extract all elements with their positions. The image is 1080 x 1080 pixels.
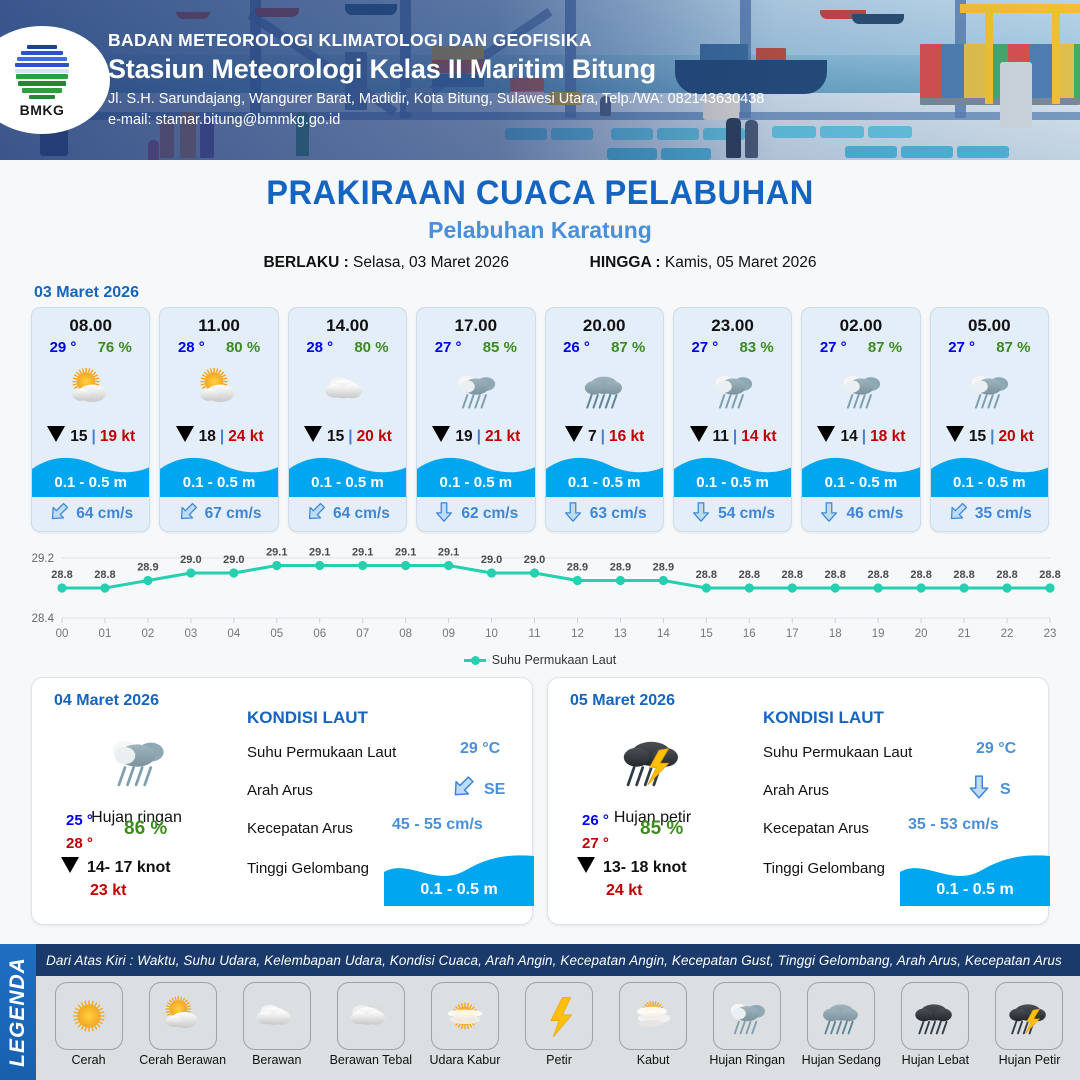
sst-chart-svg: 29.228.400010203040506070809101112131415… [14, 540, 1066, 652]
page-title: PRAKIRAAN CUACA PELABUHAN [22, 174, 1059, 213]
bmkg-logo-text: BMKG [20, 102, 65, 118]
current-direction-arrow-icon [450, 774, 476, 805]
wave-height-value: 0.1 - 0.5 m [674, 474, 791, 491]
sea-row-label: Kecepatan Arus [763, 820, 869, 837]
hingga-value: Kamis, 05 Maret 2026 [665, 254, 817, 271]
current-speed: 46 cm/s [846, 505, 903, 523]
wave-height-band: 0.1 - 0.5 m [802, 453, 919, 497]
legend-side-label: LEGENDA [0, 944, 36, 1080]
svg-text:28.9: 28.9 [137, 562, 158, 574]
legend-item: Berawan Tebal [324, 982, 417, 1067]
daily-forecast-panel: 05 Maret 2026 Hujan petir 26 ° 27 ° 85 %… [547, 677, 1049, 925]
legend-icon-cerah [55, 982, 123, 1050]
weather-icon-cerah-berawan [32, 358, 149, 420]
daily-wave-height: 0.1 - 0.5 m [384, 854, 534, 906]
legend-icon-hujan-petir [995, 982, 1063, 1050]
svg-text:28.8: 28.8 [996, 569, 1017, 581]
wave-height-band: 0.1 - 0.5 m [674, 453, 791, 497]
svg-text:29.1: 29.1 [395, 547, 416, 559]
forecast-humidity: 80 % [354, 339, 388, 356]
svg-text:29.0: 29.0 [524, 554, 545, 566]
forecast-humidity: 87 % [611, 339, 645, 356]
legend-caption: Hujan Lebat [889, 1053, 982, 1067]
daily-temp-min: 26 ° [582, 810, 609, 833]
forecast-time: 02.00 [802, 308, 919, 336]
svg-text:23: 23 [1044, 628, 1057, 640]
current-speed-value: 45 - 55 cm/s [392, 816, 483, 834]
forecast-temp-humidity-row: 28 ° 80 % [160, 336, 277, 356]
daily-wave-height: 0.1 - 0.5 m [900, 854, 1050, 906]
wind-direction-arrow-icon [564, 425, 584, 448]
svg-text:29.1: 29.1 [309, 547, 330, 559]
forecast-wind-row: 15 | 20 kt [289, 420, 406, 453]
current-direction-value: S [966, 774, 1011, 805]
wind-speed: 18 [199, 428, 216, 446]
wave-height-value: 0.1 - 0.5 m [160, 474, 277, 491]
wind-speed: 14 [840, 428, 857, 446]
title-block: PRAKIRAAN CUACA PELABUHAN Pelabuhan Kara… [0, 160, 1080, 272]
forecast-temperature: 27 ° [820, 339, 847, 356]
svg-text:28.9: 28.9 [567, 562, 588, 574]
current-speed: 63 cm/s [590, 505, 647, 523]
svg-text:28.8: 28.8 [739, 569, 760, 581]
current-speed: 62 cm/s [461, 505, 518, 523]
wind-speed: 19 [455, 428, 472, 446]
legend-caption: Hujan Ringan [701, 1053, 794, 1067]
forecast-card: 23.00 27 ° 83 % 11 | 14 kt 0.1 - 0.5 m 5… [673, 307, 792, 532]
svg-text:29.0: 29.0 [223, 554, 244, 566]
current-direction-arrow-icon [48, 501, 70, 528]
forecast-wind-row: 15 | 20 kt [931, 420, 1048, 453]
svg-text:03: 03 [184, 628, 197, 640]
legend-item: Hujan Petir [983, 982, 1076, 1067]
forecast-temp-humidity-row: 26 ° 87 % [546, 336, 663, 356]
legend-item: Hujan Sedang [795, 982, 888, 1067]
svg-text:04: 04 [227, 628, 240, 640]
wind-gust: 21 kt [485, 428, 520, 446]
forecast-card: 20.00 26 ° 87 % 7 | 16 kt 0.1 - 0.5 m 63… [545, 307, 664, 532]
svg-text:28.8: 28.8 [94, 569, 115, 581]
legend-caption: Hujan Petir [983, 1053, 1076, 1067]
wave-height-value: 0.1 - 0.5 m [546, 474, 663, 491]
legend-icon-kabut [619, 982, 687, 1050]
forecast-card-row: 08.00 29 ° 76 % 15 | 19 kt 0.1 - 0.5 m 6… [0, 307, 1080, 532]
forecast-time: 08.00 [32, 308, 149, 336]
svg-text:28.8: 28.8 [825, 569, 846, 581]
forecast-time: 11.00 [160, 308, 277, 336]
legend-caption: Udara Kabur [418, 1053, 511, 1067]
forecast-card: 05.00 27 ° 87 % 15 | 20 kt 0.1 - 0.5 m 3… [930, 307, 1049, 532]
svg-text:20: 20 [915, 628, 928, 640]
wind-separator: | [91, 428, 95, 446]
legend-note-bar: Dari Atas Kiri : Waktu, Suhu Udara, Kele… [36, 944, 1080, 976]
wave-height-band: 0.1 - 0.5 m [546, 453, 663, 497]
wind-gust: 19 kt [100, 428, 135, 446]
wind-direction-arrow-icon [46, 425, 66, 448]
forecast-current-row: 67 cm/s [160, 497, 277, 531]
sea-row-label: Tinggi Gelombang [763, 860, 885, 877]
hingga-label: HINGGA : [590, 254, 661, 271]
svg-text:29.0: 29.0 [481, 554, 502, 566]
forecast-wind-row: 11 | 14 kt [674, 420, 791, 453]
forecast-current-row: 64 cm/s [32, 497, 149, 531]
legend-icon-udara-kabur [431, 982, 499, 1050]
legend-caption: Cerah [42, 1053, 135, 1067]
svg-text:02: 02 [142, 628, 155, 640]
forecast-temperature: 27 ° [948, 339, 975, 356]
svg-text:28.8: 28.8 [953, 569, 974, 581]
svg-text:12: 12 [571, 628, 584, 640]
forecast-wind-row: 18 | 24 kt [160, 420, 277, 453]
svg-text:28.8: 28.8 [910, 569, 931, 581]
svg-text:11: 11 [529, 628, 541, 640]
sea-surface-temp-value: 29 °C [976, 740, 1016, 758]
legend-item: Cerah Berawan [136, 982, 229, 1067]
current-speed: 54 cm/s [718, 505, 775, 523]
svg-text:15: 15 [700, 628, 713, 640]
forecast-current-row: 35 cm/s [931, 497, 1048, 531]
forecast-humidity: 87 % [868, 339, 902, 356]
wind-gust: 18 kt [870, 428, 905, 446]
weather-icon-hujan-ringan [931, 358, 1048, 420]
wind-separator: | [477, 428, 481, 446]
forecast-card: 08.00 29 ° 76 % 15 | 19 kt 0.1 - 0.5 m 6… [31, 307, 150, 532]
weather-icon-cerah-berawan [160, 358, 277, 420]
svg-text:17: 17 [786, 628, 799, 640]
forecast-temp-humidity-row: 28 ° 80 % [289, 336, 406, 356]
daily-wind: 13- 18 knot [576, 856, 687, 879]
legend-caption: Kabut [607, 1053, 700, 1067]
legend-icon-berawan-tebal [337, 982, 405, 1050]
legend-item: Petir [512, 982, 605, 1067]
svg-text:28.8: 28.8 [51, 569, 72, 581]
wind-gust: 20 kt [998, 428, 1033, 446]
wind-speed: 15 [327, 428, 344, 446]
wind-separator: | [990, 428, 994, 446]
weather-icon-hujan-ringan [802, 358, 919, 420]
svg-text:09: 09 [442, 628, 455, 640]
daily-gust: 23 kt [90, 882, 126, 900]
forecast-current-row: 63 cm/s [546, 497, 663, 531]
current-direction-arrow-icon [690, 501, 712, 528]
forecast-current-row: 54 cm/s [674, 497, 791, 531]
svg-text:29.1: 29.1 [266, 547, 287, 559]
svg-text:29.0: 29.0 [180, 554, 201, 566]
daily-humidity: 86 % [124, 818, 167, 840]
wind-gust: 24 kt [228, 428, 263, 446]
svg-text:28.8: 28.8 [867, 569, 888, 581]
sea-conditions-title: KONDISI LAUT [247, 708, 368, 728]
berlaku-label: BERLAKU : [263, 254, 348, 271]
wind-direction-arrow-icon [60, 856, 80, 879]
svg-text:06: 06 [313, 628, 326, 640]
daily-temp-max: 27 ° [582, 833, 609, 856]
svg-text:08: 08 [399, 628, 412, 640]
svg-text:28.8: 28.8 [696, 569, 717, 581]
daily-wind-value: 13- 18 knot [603, 859, 687, 877]
svg-text:22: 22 [1001, 628, 1014, 640]
svg-text:28.8: 28.8 [782, 569, 803, 581]
legend-icon-hujan-sedang [807, 982, 875, 1050]
wave-height-band: 0.1 - 0.5 m [931, 453, 1048, 497]
svg-text:18: 18 [829, 628, 842, 640]
forecast-card: 11.00 28 ° 80 % 18 | 24 kt 0.1 - 0.5 m 6… [159, 307, 278, 532]
svg-text:07: 07 [356, 628, 369, 640]
daily-temperature-range: 25 ° 28 ° [66, 810, 93, 855]
daily-temperature-range: 26 ° 27 ° [582, 810, 609, 855]
svg-text:00: 00 [56, 628, 69, 640]
legend-caption: Hujan Sedang [795, 1053, 888, 1067]
forecast-temp-humidity-row: 27 ° 85 % [417, 336, 534, 356]
wave-height-value: 0.1 - 0.5 m [802, 474, 919, 491]
forecast-wind-row: 14 | 18 kt [802, 420, 919, 453]
current-speed: 64 cm/s [333, 505, 390, 523]
daily-temp-max: 28 ° [66, 833, 93, 856]
legend-icon-hujan-ringan [713, 982, 781, 1050]
header-organization: BADAN METEOROLOGI KLIMATOLOGI DAN GEOFIS… [108, 30, 764, 51]
forecast-temperature: 26 ° [563, 339, 590, 356]
header-email: e-mail: stamar.bitung@bmmkg.go.id [108, 110, 764, 131]
forecast-current-row: 46 cm/s [802, 497, 919, 531]
sea-row-label: Arah Arus [247, 782, 313, 799]
current-speed: 67 cm/s [205, 505, 262, 523]
weather-icon-berawan [289, 358, 406, 420]
svg-text:19: 19 [872, 628, 885, 640]
page-header: BMKG BADAN METEOROLOGI KLIMATOLOGI DAN G… [0, 0, 1080, 160]
forecast-date-label: 03 Maret 2026 [34, 284, 1080, 302]
weather-icon-hujan-ringan [417, 358, 534, 420]
svg-text:29.1: 29.1 [438, 547, 459, 559]
weather-icon-hujan-ringan [674, 358, 791, 420]
forecast-humidity: 85 % [483, 339, 517, 356]
wind-direction-arrow-icon [689, 425, 709, 448]
forecast-temperature: 29 ° [50, 339, 77, 356]
current-direction-arrow-icon [562, 501, 584, 528]
forecast-current-row: 64 cm/s [289, 497, 406, 531]
wave-height-value: 0.1 - 0.5 m [931, 474, 1048, 491]
wind-direction-arrow-icon [303, 425, 323, 448]
daily-humidity: 85 % [640, 818, 683, 840]
legend-item: Cerah [42, 982, 135, 1067]
legend-caption: Petir [512, 1053, 605, 1067]
forecast-wind-row: 19 | 21 kt [417, 420, 534, 453]
forecast-humidity: 83 % [739, 339, 773, 356]
wave-height-band: 0.1 - 0.5 m [160, 453, 277, 497]
daily-wind: 14- 17 knot [60, 856, 171, 879]
svg-text:28.9: 28.9 [610, 562, 631, 574]
sst-chart-legend: Suhu Permukaan Laut [0, 653, 1080, 667]
wind-separator: | [862, 428, 866, 446]
wind-direction-arrow-icon [576, 856, 596, 879]
validity-row: BERLAKU : Selasa, 03 Maret 2026 HINGGA :… [0, 254, 1080, 272]
header-text-block: BADAN METEOROLOGI KLIMATOLOGI DAN GEOFIS… [108, 30, 764, 131]
wind-direction-arrow-icon [945, 425, 965, 448]
forecast-temp-humidity-row: 27 ° 87 % [802, 336, 919, 356]
svg-text:29.2: 29.2 [32, 553, 54, 565]
wind-separator: | [348, 428, 352, 446]
wind-speed: 7 [588, 428, 597, 446]
forecast-time: 23.00 [674, 308, 791, 336]
bmkg-logo-mark [13, 43, 71, 101]
current-speed-value: 35 - 53 cm/s [908, 816, 999, 834]
forecast-wind-row: 7 | 16 kt [546, 420, 663, 453]
svg-text:13: 13 [614, 628, 627, 640]
forecast-card: 14.00 28 ° 80 % 15 | 20 kt 0.1 - 0.5 m 6… [288, 307, 407, 532]
forecast-humidity: 76 % [98, 339, 132, 356]
svg-text:01: 01 [99, 628, 112, 640]
port-name: Pelabuhan Karatung [0, 217, 1080, 244]
wind-direction-arrow-icon [431, 425, 451, 448]
legend-item: Berawan [230, 982, 323, 1067]
forecast-temp-humidity-row: 27 ° 83 % [674, 336, 791, 356]
daily-forecast-panel: 04 Maret 2026 Hujan ringan 25 ° 28 ° 86 … [31, 677, 533, 925]
wave-height-band: 0.1 - 0.5 m [417, 453, 534, 497]
legend-icon-cerah-berawan [149, 982, 217, 1050]
forecast-temperature: 27 ° [691, 339, 718, 356]
sea-conditions-title: KONDISI LAUT [763, 708, 884, 728]
forecast-temp-humidity-row: 29 ° 76 % [32, 336, 149, 356]
legend-icon-row: Cerah Cerah Berawan Berawan Berawan Teba… [36, 976, 1080, 1080]
legend-area: LEGENDA Dari Atas Kiri : Waktu, Suhu Uda… [0, 944, 1080, 1080]
wave-height-band: 0.1 - 0.5 m [289, 453, 406, 497]
current-direction-arrow-icon [947, 501, 969, 528]
wind-direction-arrow-icon [175, 425, 195, 448]
current-direction-value: SE [450, 774, 505, 805]
daily-date: 04 Maret 2026 [54, 692, 159, 710]
wind-speed: 15 [969, 428, 986, 446]
legend-item: Udara Kabur [418, 982, 511, 1067]
forecast-time: 05.00 [931, 308, 1048, 336]
legend-item: Hujan Lebat [889, 982, 982, 1067]
forecast-card: 02.00 27 ° 87 % 14 | 18 kt 0.1 - 0.5 m 4… [801, 307, 920, 532]
forecast-temperature: 27 ° [435, 339, 462, 356]
wave-height-value: 0.1 - 0.5 m [417, 474, 534, 491]
wind-speed: 15 [70, 428, 87, 446]
svg-text:28.9: 28.9 [653, 562, 674, 574]
wave-height-value: 0.1 - 0.5 m [289, 474, 406, 491]
legend-caption: Cerah Berawan [136, 1053, 229, 1067]
sst-legend-swatch-icon [464, 659, 486, 662]
wind-speed: 11 [713, 428, 729, 446]
wind-separator: | [733, 428, 737, 446]
sea-row-label: Tinggi Gelombang [247, 860, 369, 877]
header-address: Jl. S.H. Sarundajang, Wangurer Barat, Ma… [108, 89, 764, 110]
daily-forecast-row: 04 Maret 2026 Hujan ringan 25 ° 28 ° 86 … [0, 667, 1080, 925]
header-station-name: Stasiun Meteorologi Kelas II Maritim Bit… [108, 54, 764, 85]
daily-date: 05 Maret 2026 [570, 692, 675, 710]
berlaku-value: Selasa, 03 Maret 2026 [353, 254, 509, 271]
wind-direction-arrow-icon [816, 425, 836, 448]
sea-row-label: Arah Arus [763, 782, 829, 799]
daily-wave-height-value: 0.1 - 0.5 m [384, 881, 534, 899]
daily-wave-height-value: 0.1 - 0.5 m [900, 881, 1050, 899]
forecast-temperature: 28 ° [178, 339, 205, 356]
svg-text:10: 10 [485, 628, 498, 640]
legend-note-text: Dari Atas Kiri : Waktu, Suhu Udara, Kele… [46, 953, 1062, 968]
wave-height-band: 0.1 - 0.5 m [32, 453, 149, 497]
sea-row-label: Suhu Permukaan Laut [247, 744, 396, 761]
wave-height-value: 0.1 - 0.5 m [32, 474, 149, 491]
legend-icon-petir [525, 982, 593, 1050]
daily-wind-value: 14- 17 knot [87, 859, 171, 877]
legend-side-text: LEGENDA [6, 957, 30, 1067]
sea-row-label: Suhu Permukaan Laut [763, 744, 912, 761]
svg-text:16: 16 [743, 628, 756, 640]
svg-text:28.8: 28.8 [1039, 569, 1060, 581]
forecast-time: 14.00 [289, 308, 406, 336]
wind-gust: 20 kt [357, 428, 392, 446]
svg-text:05: 05 [270, 628, 283, 640]
current-direction-arrow-icon [433, 501, 455, 528]
svg-text:21: 21 [958, 628, 971, 640]
sea-surface-temp-value: 29 °C [460, 740, 500, 758]
svg-text:29.1: 29.1 [352, 547, 373, 559]
legend-item: Kabut [607, 982, 700, 1067]
daily-temp-min: 25 ° [66, 810, 93, 833]
svg-text:28.4: 28.4 [32, 613, 55, 625]
legend-item: Hujan Ringan [701, 982, 794, 1067]
forecast-current-row: 62 cm/s [417, 497, 534, 531]
forecast-humidity: 87 % [996, 339, 1030, 356]
svg-text:14: 14 [657, 628, 670, 640]
legend-icon-berawan [243, 982, 311, 1050]
wind-gust: 16 kt [609, 428, 644, 446]
forecast-time: 17.00 [417, 308, 534, 336]
sea-row-label: Kecepatan Arus [247, 820, 353, 837]
legend-caption: Berawan Tebal [324, 1053, 417, 1067]
current-speed: 64 cm/s [76, 505, 133, 523]
current-speed: 35 cm/s [975, 505, 1032, 523]
current-direction-arrow-icon [818, 501, 840, 528]
forecast-temperature: 28 ° [306, 339, 333, 356]
current-direction-arrow-icon [966, 774, 992, 805]
weather-icon-hujan-sedang [546, 358, 663, 420]
wind-gust: 14 kt [741, 428, 776, 446]
current-direction-arrow-icon [177, 501, 199, 528]
forecast-humidity: 80 % [226, 339, 260, 356]
sst-legend-label: Suhu Permukaan Laut [492, 653, 616, 667]
forecast-wind-row: 15 | 19 kt [32, 420, 149, 453]
legend-icon-hujan-lebat [901, 982, 969, 1050]
current-direction-arrow-icon [305, 501, 327, 528]
wind-separator: | [601, 428, 605, 446]
daily-gust: 24 kt [606, 882, 642, 900]
forecast-temp-humidity-row: 27 ° 87 % [931, 336, 1048, 356]
forecast-time: 20.00 [546, 308, 663, 336]
wind-separator: | [220, 428, 224, 446]
sst-chart: 29.228.400010203040506070809101112131415… [14, 540, 1066, 652]
forecast-card: 17.00 27 ° 85 % 19 | 21 kt 0.1 - 0.5 m 6… [416, 307, 535, 532]
legend-caption: Berawan [230, 1053, 323, 1067]
